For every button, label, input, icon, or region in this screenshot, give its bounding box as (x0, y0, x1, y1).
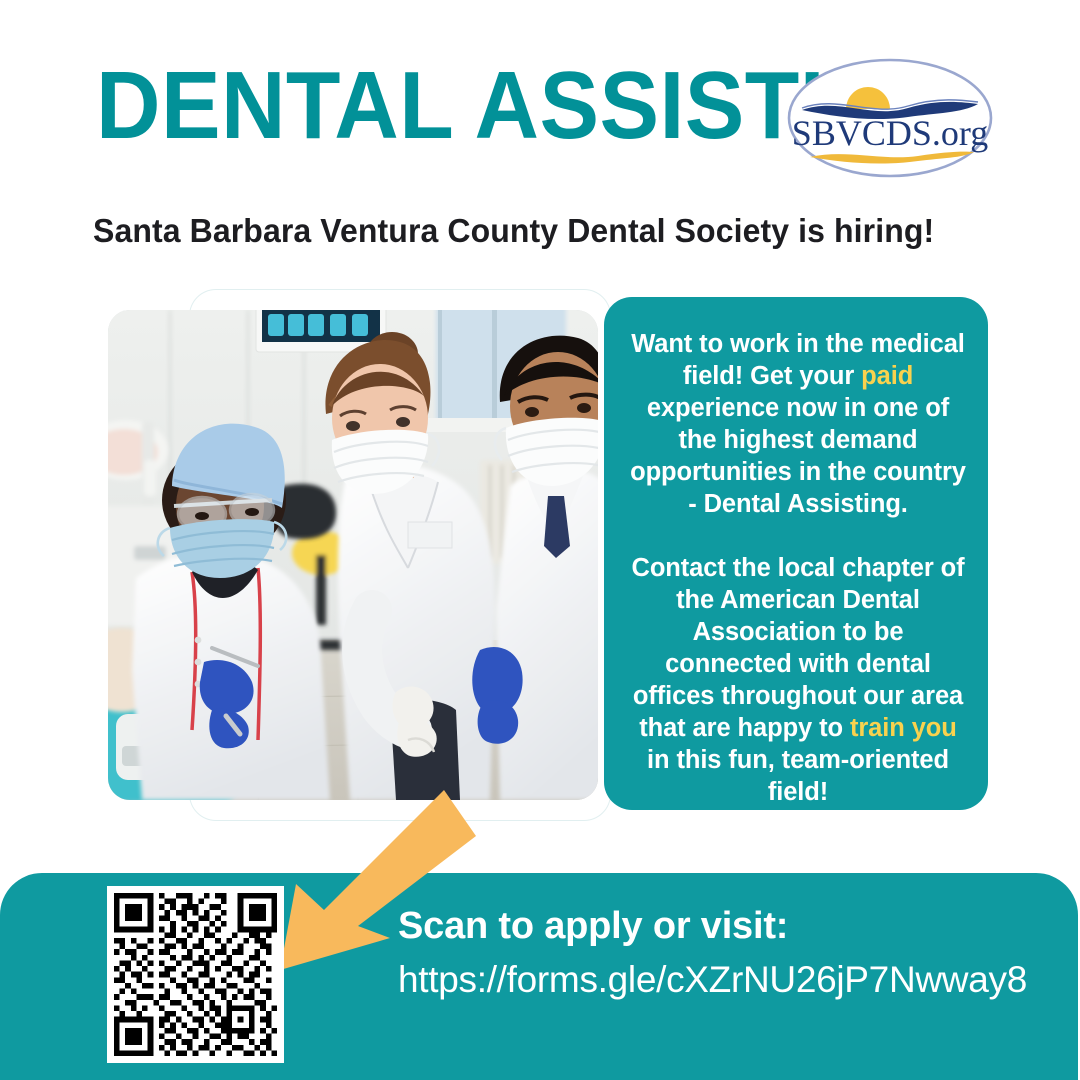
copy-paragraph-1: Want to work in the medical field! Get y… (630, 328, 966, 520)
copy-highlight-paid: paid (861, 362, 913, 390)
copy-highlight-train-you: train you (850, 714, 957, 742)
copy-seg: Want to work in the medical field! Get y… (631, 330, 965, 390)
copy-panel: Want to work in the medical field! Get y… (604, 297, 988, 810)
copy-seg: in this fun, team-oriented field! (647, 746, 949, 806)
qr-code[interactable] (107, 886, 284, 1063)
cta-heading: Scan to apply or visit: (398, 901, 1058, 951)
cta-text-block: Scan to apply or visit: https://forms.gl… (398, 901, 1058, 1003)
sbvcds-logo: SBVCDS.org (786, 57, 994, 179)
copy-paragraph-2: Contact the local chapter of the America… (630, 552, 966, 808)
logo-wordmark: SBVCDS.org (792, 113, 988, 153)
poster-root: DENTAL ASSISTING SBVCDS.org Santa Barbar… (0, 0, 1080, 1080)
clinic-photo (108, 310, 598, 800)
header: DENTAL ASSISTING SBVCDS.org (0, 0, 1080, 200)
cta-url[interactable]: https://forms.gle/cXZrNU26jP7Nwway8 (398, 957, 1058, 1003)
copy-seg: experience now in one of the highest dem… (630, 394, 966, 518)
subtitle: Santa Barbara Ventura County Dental Soci… (93, 211, 966, 251)
